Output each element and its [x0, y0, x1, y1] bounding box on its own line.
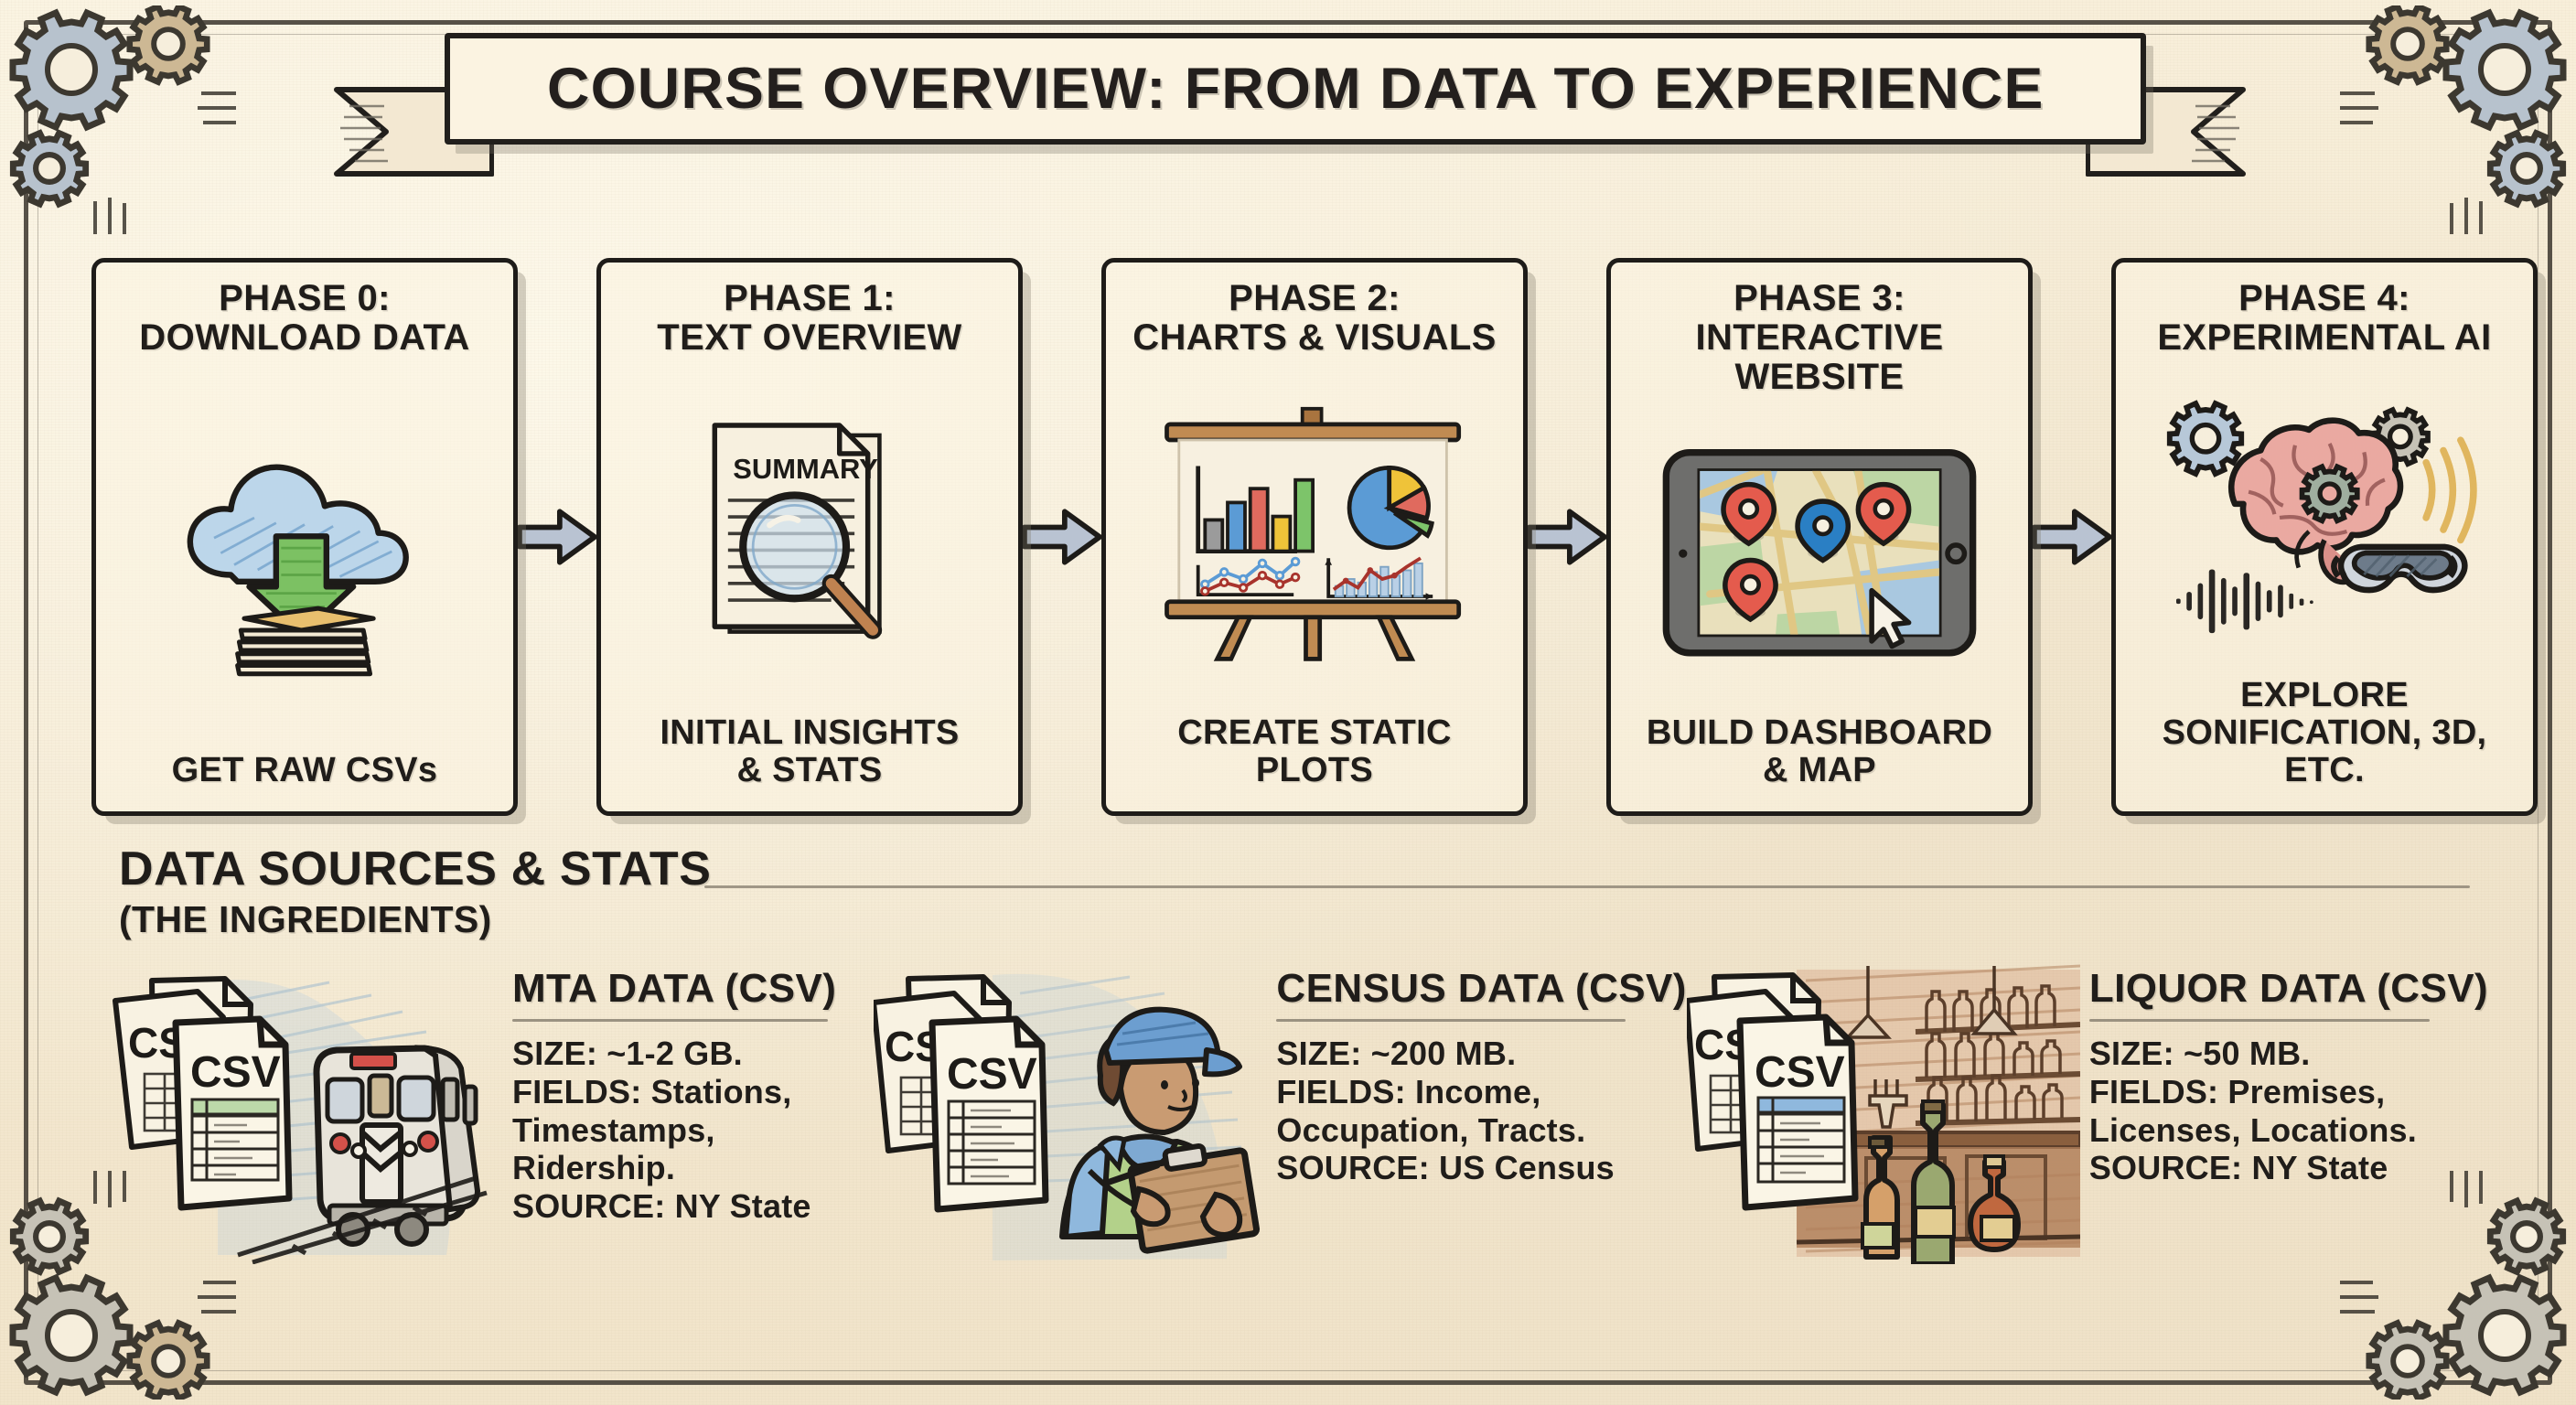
- phase-0-caption: GET RAW CSVs: [172, 752, 438, 800]
- csv-sheets-subway-train-illustration: CSV CSV: [110, 962, 503, 1264]
- data-source-size: SIZE: ~200 MB.: [1276, 1035, 1686, 1073]
- data-source-source: SOURCE: NY State: [2089, 1149, 2488, 1187]
- cloud-download-icon: [105, 358, 504, 752]
- arrow-1-2: [1023, 258, 1101, 816]
- gear-icon: [2170, 403, 2241, 474]
- csv-label: CSV: [1755, 1048, 1845, 1097]
- phase-card-3[interactable]: PHASE 3: INTERACTIVE WEBSITE: [1606, 258, 2033, 816]
- data-sources-row: CSV CSV: [110, 962, 2488, 1328]
- page-title: COURSE OVERVIEW: FROM DATA TO EXPERIENCE: [547, 56, 2045, 122]
- phase-3-caption-line2: & MAP: [1647, 752, 1992, 789]
- vr-goggles-icon: [2334, 547, 2464, 590]
- phase-4-subtitle: EXPERIMENTAL AI: [2157, 318, 2491, 358]
- data-source-size: SIZE: ~50 MB.: [2089, 1035, 2488, 1073]
- phase-card-1[interactable]: PHASE 1: TEXT OVERVIEW SUMMARY: [596, 258, 1023, 816]
- summary-doc-label: SUMMARY: [733, 453, 878, 485]
- document-magnifier-icon: SUMMARY: [610, 358, 1009, 714]
- csv-label: CSV: [947, 1050, 1037, 1099]
- data-source-mta[interactable]: CSV CSV: [110, 962, 874, 1328]
- phase-4-title: PHASE 4:: [2157, 279, 2491, 318]
- phase-3-subtitle: INTERACTIVE WEBSITE: [1620, 318, 2019, 397]
- data-source-fields-line1: FIELDS: Stations,: [512, 1073, 874, 1111]
- arrow-3-4: [2033, 258, 2111, 816]
- data-source-fields-line2: Licenses, Locations.: [2089, 1111, 2488, 1150]
- easel-charts-icon: [1115, 358, 1514, 714]
- title-underline: [2089, 1019, 2430, 1022]
- phase-1-subtitle: TEXT OVERVIEW: [657, 318, 961, 358]
- phase-card-0[interactable]: PHASE 0: DOWNLOAD DATA: [91, 258, 518, 816]
- data-source-source: SOURCE: US Census: [1276, 1149, 1686, 1187]
- phase-card-4[interactable]: PHASE 4: EXPERIMENTAL AI: [2111, 258, 2538, 816]
- data-source-fields-line2: Occupation, Tracts.: [1276, 1111, 1686, 1150]
- phase-2-caption-line1: CREATE STATIC: [1177, 714, 1451, 752]
- csv-label: CSV: [190, 1048, 281, 1097]
- csv-sheets-bar-bottles-illustration: CSV CSV: [1687, 962, 2080, 1264]
- phase-2-subtitle: CHARTS & VISUALS: [1132, 318, 1497, 358]
- phase-1-caption-line2: & STATS: [660, 752, 959, 789]
- data-source-name: MTA DATA (CSV): [512, 966, 874, 1012]
- arrow-0-1: [518, 258, 596, 816]
- gear-icon: [2302, 467, 2357, 520]
- phase-3-caption-line1: BUILD DASHBOARD: [1647, 714, 1992, 752]
- data-source-census[interactable]: CSV CSV: [874, 962, 1686, 1328]
- data-sources-title: DATA SOURCES & STATS: [119, 842, 712, 896]
- section-divider: [704, 885, 2470, 888]
- phase-4-caption-line2: SONIFICATION, 3D, ETC.: [2125, 714, 2524, 789]
- gear-cluster-icon: [2340, 5, 2569, 234]
- data-source-size: SIZE: ~1-2 GB.: [512, 1035, 874, 1073]
- gear-cluster-icon: [7, 5, 236, 234]
- sound-wave-icon: [2426, 440, 2474, 540]
- phase-2-title: PHASE 2:: [1132, 279, 1497, 318]
- tablet-map-pins-icon: [1620, 396, 2019, 714]
- title-underline: [512, 1019, 828, 1022]
- data-source-liquor[interactable]: CSV CSV: [1687, 962, 2488, 1328]
- title-underline: [1276, 1019, 1626, 1022]
- data-sources-subtitle: (THE INGREDIENTS): [119, 898, 712, 941]
- phase-0-subtitle: DOWNLOAD DATA: [139, 318, 469, 358]
- phase-2-caption-line2: PLOTS: [1177, 752, 1451, 789]
- data-sources-heading: DATA SOURCES & STATS (THE INGREDIENTS): [119, 842, 712, 941]
- data-source-name: LIQUOR DATA (CSV): [2089, 966, 2488, 1012]
- data-source-name: CENSUS DATA (CSV): [1276, 966, 1686, 1012]
- phase-1-title: PHASE 1:: [657, 279, 961, 318]
- title-banner: COURSE OVERVIEW: FROM DATA TO EXPERIENCE: [329, 33, 2250, 152]
- audio-waveform-icon: [2176, 570, 2313, 634]
- csv-sheets-census-worker-illustration: CSV CSV: [874, 962, 1267, 1264]
- data-source-fields-line1: FIELDS: Premises,: [2089, 1073, 2488, 1111]
- phase-card-2[interactable]: PHASE 2: CHARTS & VISUALS: [1101, 258, 1528, 816]
- brain-gears-vr-icon: [2125, 358, 2524, 677]
- phase-0-title: PHASE 0:: [139, 279, 469, 318]
- phase-3-title: PHASE 3:: [1620, 279, 2019, 318]
- arrow-2-3: [1528, 258, 1606, 816]
- data-source-fields-line1: FIELDS: Income,: [1276, 1073, 1686, 1111]
- phase-4-caption-line1: EXPLORE: [2125, 677, 2524, 714]
- data-source-fields-line2: Timestamps, Ridership.: [512, 1111, 874, 1188]
- banner-plate: COURSE OVERVIEW: FROM DATA TO EXPERIENCE: [445, 33, 2146, 145]
- data-source-source: SOURCE: NY State: [512, 1187, 874, 1226]
- phase-1-caption-line1: INITIAL INSIGHTS: [660, 714, 959, 752]
- phase-row: PHASE 0: DOWNLOAD DATA: [91, 258, 2492, 816]
